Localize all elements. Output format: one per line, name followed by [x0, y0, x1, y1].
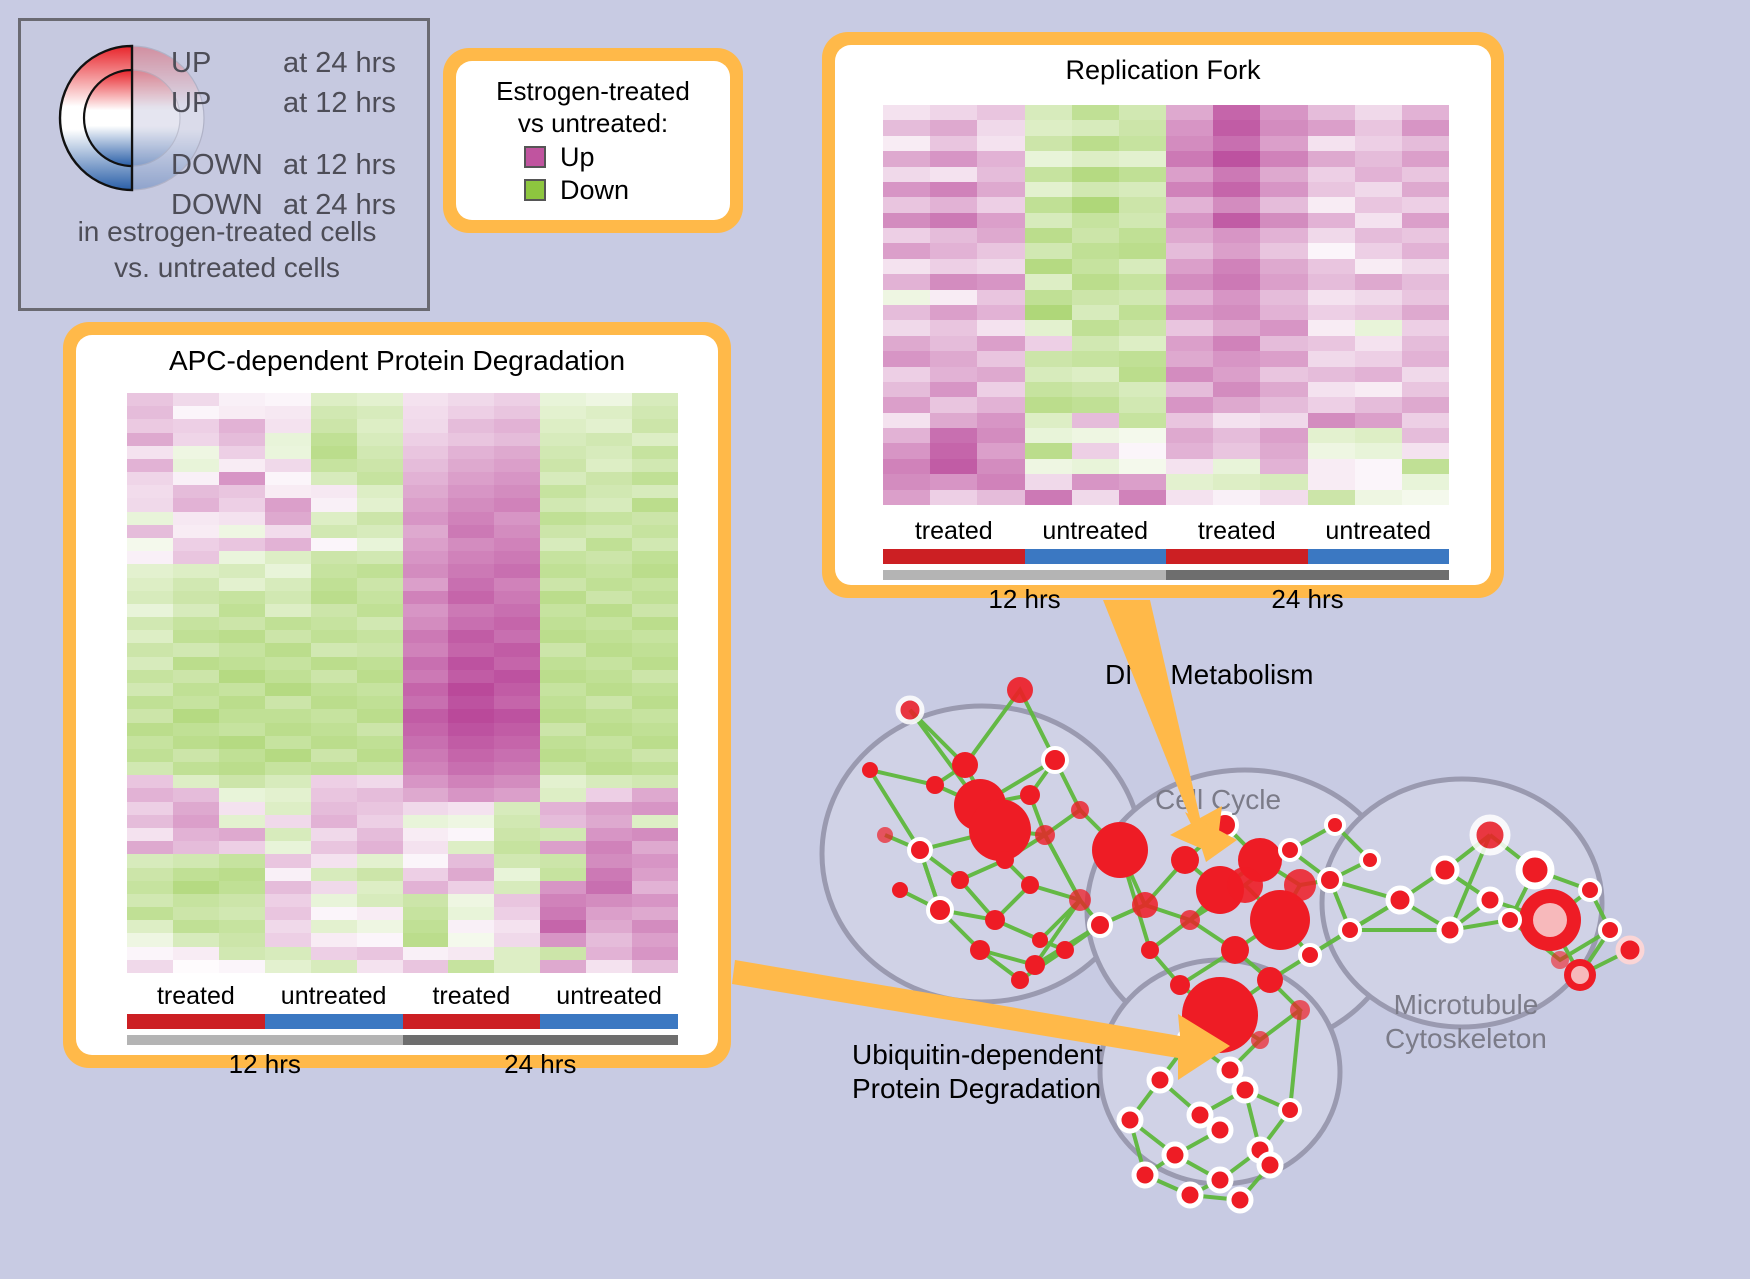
heatmap-cell — [586, 446, 632, 459]
heatmap-cell — [632, 907, 678, 920]
sample-group-labels: treated untreated treated untreated — [883, 515, 1449, 547]
heatmap-cell — [403, 498, 449, 511]
heatmap-cell — [403, 788, 449, 801]
heatmap-cell — [586, 472, 632, 485]
heatmap-cell — [1260, 274, 1307, 289]
heatmap-cell — [448, 551, 494, 564]
heatmap-cell — [1355, 290, 1402, 305]
heatmap-cell — [1213, 259, 1260, 274]
heatmap-cell — [357, 538, 403, 551]
heatmap-cell — [357, 933, 403, 946]
updown-title-line1: Estrogen-treated — [472, 75, 714, 107]
heatmap-cell — [403, 551, 449, 564]
heatmap-cell — [173, 406, 219, 419]
heatmap-cell — [586, 630, 632, 643]
heatmap-cell — [357, 709, 403, 722]
heatmap-cell — [1025, 259, 1072, 274]
time-labels: 12 hrs 24 hrs — [883, 580, 1449, 618]
heatmap-cell — [1308, 167, 1355, 182]
heatmap-cell — [586, 564, 632, 577]
heatmap-cell — [977, 413, 1024, 428]
updown-label: Down — [560, 175, 629, 205]
sample-group-colorbar — [883, 549, 1449, 564]
heatmap-cell — [403, 670, 449, 683]
heatmap-cell — [265, 433, 311, 446]
heatmap-cell — [1166, 428, 1213, 443]
heatmap-cell — [930, 320, 977, 335]
heatmap-cell — [1213, 228, 1260, 243]
heatmap-cell — [1025, 167, 1072, 182]
heatmap-cell — [1166, 136, 1213, 151]
heatmap-cell — [448, 841, 494, 854]
heatmap-cell — [632, 630, 678, 643]
heatmap-cell — [1260, 228, 1307, 243]
heatmap-cell — [586, 525, 632, 538]
heatmap-cell — [1072, 274, 1119, 289]
heatmap-cell — [1308, 413, 1355, 428]
heatmap-cell — [357, 551, 403, 564]
heatmap-cell — [1355, 228, 1402, 243]
heatmap-cell — [494, 933, 540, 946]
heatmap-cell — [1402, 474, 1449, 489]
heatmap-cell — [1166, 443, 1213, 458]
time-bar-12hrs — [883, 570, 1166, 580]
heatmap-cell — [311, 868, 357, 881]
heatmap-cell — [1402, 382, 1449, 397]
heatmap-cell — [540, 723, 586, 736]
heatmap-cell — [357, 578, 403, 591]
heatmap-cell — [403, 538, 449, 551]
heatmap-cell — [494, 578, 540, 591]
heatmap-cell — [540, 920, 586, 933]
heatmap-cell — [448, 393, 494, 406]
heatmap-cell — [403, 854, 449, 867]
heatmap-cell — [127, 775, 173, 788]
heatmap-cell — [173, 723, 219, 736]
heatmap-cell — [494, 512, 540, 525]
heatmap-cell — [173, 670, 219, 683]
heatmap-cell — [1402, 490, 1449, 505]
heatmap-cell — [930, 305, 977, 320]
apc-degradation-title: APC-dependent Protein Degradation — [76, 335, 718, 377]
heatmap-cell — [1402, 336, 1449, 351]
heatmap-cell — [494, 525, 540, 538]
heatmap-cell — [357, 907, 403, 920]
heatmap-cell — [1260, 397, 1307, 412]
heatmap-cell — [448, 604, 494, 617]
heatmap-cell — [1166, 243, 1213, 258]
heatmap-cell — [586, 815, 632, 828]
heatmap-cell — [403, 920, 449, 933]
heatmap-cell — [1308, 290, 1355, 305]
heatmap-cell — [403, 630, 449, 643]
heatmap-cell — [127, 538, 173, 551]
heatmap-cell — [540, 683, 586, 696]
heatmap-cell — [127, 815, 173, 828]
heatmap-cell — [448, 406, 494, 419]
heatmap-cell — [1213, 397, 1260, 412]
heatmap-cell — [1166, 351, 1213, 366]
heatmap-cell — [1166, 167, 1213, 182]
heatmap-cell — [219, 446, 265, 459]
heatmap-cell — [586, 459, 632, 472]
colorwheel-key: UP — [171, 43, 283, 83]
heatmap-cell — [930, 136, 977, 151]
heatmap-cell — [127, 868, 173, 881]
heatmap-cell — [403, 933, 449, 946]
heatmap-cell — [265, 854, 311, 867]
heatmap-cell — [1025, 397, 1072, 412]
heatmap-cell — [219, 657, 265, 670]
heatmap-cell — [1308, 120, 1355, 135]
heatmap-cell — [1260, 428, 1307, 443]
heatmap-cell — [357, 419, 403, 432]
heatmap-cell — [930, 105, 977, 120]
heatmap-cell — [1119, 336, 1166, 351]
heatmap-cell — [1072, 182, 1119, 197]
heatmap-cell — [586, 591, 632, 604]
heatmap-cell — [632, 406, 678, 419]
heatmap-cell — [127, 512, 173, 525]
heatmap-cell — [448, 564, 494, 577]
heatmap-cell — [632, 670, 678, 683]
heatmap-cell — [977, 305, 1024, 320]
apc-sample-strip: treated untreated treated untreated 12 h — [127, 980, 678, 1083]
heatmap-cell — [540, 868, 586, 881]
heatmap-cell — [1355, 259, 1402, 274]
heatmap-cell — [494, 828, 540, 841]
heatmap-cell — [883, 320, 930, 335]
heatmap-cell — [219, 578, 265, 591]
heatmap-cell — [1402, 259, 1449, 274]
heatmap-cell — [311, 446, 357, 459]
heatmap-cell — [219, 933, 265, 946]
heatmap-cell — [494, 736, 540, 749]
heatmap-cell — [311, 775, 357, 788]
heatmap-cell — [448, 630, 494, 643]
heatmap-cell — [173, 657, 219, 670]
heatmap-cell — [540, 393, 586, 406]
heatmap-cell — [311, 828, 357, 841]
heatmap-cell — [403, 472, 449, 485]
heatmap-cell — [357, 683, 403, 696]
heatmap-cell — [357, 894, 403, 907]
heatmap-cell — [357, 960, 403, 973]
heatmap-cell — [1260, 167, 1307, 182]
heatmap-cell — [127, 657, 173, 670]
heatmap-cell — [127, 723, 173, 736]
heatmap-cell — [357, 406, 403, 419]
heatmap-cell — [265, 709, 311, 722]
heatmap-cell — [1402, 167, 1449, 182]
heatmap-cell — [357, 854, 403, 867]
heatmap-cell — [632, 749, 678, 762]
heatmap-cell — [1025, 151, 1072, 166]
heatmap-cell — [127, 788, 173, 801]
heatmap-cell — [1402, 182, 1449, 197]
heatmap-cell — [173, 538, 219, 551]
heatmap-cell — [357, 617, 403, 630]
heatmap-cell — [448, 683, 494, 696]
heatmap-cell — [494, 485, 540, 498]
heatmap-cell — [540, 433, 586, 446]
heatmap-cell — [403, 578, 449, 591]
heatmap-cell — [357, 604, 403, 617]
heatmap-cell — [1119, 290, 1166, 305]
heatmap-cell — [357, 868, 403, 881]
figure-canvas: UP at 24 hrs UP at 12 hrs DOWN at 12 hrs… — [0, 0, 1750, 1279]
heatmap-cell — [448, 854, 494, 867]
heatmap-cell — [632, 947, 678, 960]
heatmap-cell — [883, 290, 930, 305]
heatmap-cell — [219, 617, 265, 630]
heatmap-cell — [1072, 367, 1119, 382]
heatmap-cell — [1119, 459, 1166, 474]
heatmap-cell — [586, 419, 632, 432]
heatmap-cell — [1072, 228, 1119, 243]
heatmap-cell — [586, 868, 632, 881]
heatmap-cell — [930, 443, 977, 458]
heatmap-cell — [977, 443, 1024, 458]
heatmap-cell — [403, 485, 449, 498]
heatmap-cell — [1260, 259, 1307, 274]
heatmap-cell — [494, 960, 540, 973]
time-label: 12 hrs — [883, 580, 1166, 618]
heatmap-cell — [311, 854, 357, 867]
heatmap-cell — [930, 259, 977, 274]
heatmap-cell — [219, 947, 265, 960]
heatmap-cell — [1402, 151, 1449, 166]
heatmap-cell — [403, 604, 449, 617]
heatmap-cell — [127, 406, 173, 419]
heatmap-cell — [311, 894, 357, 907]
heatmap-cell — [586, 854, 632, 867]
heatmap-cell — [357, 749, 403, 762]
heatmap-cell — [1402, 428, 1449, 443]
heatmap-cell — [586, 538, 632, 551]
time-labels: 12 hrs 24 hrs — [127, 1045, 678, 1083]
updown-title-line2: vs untreated: — [472, 107, 714, 139]
heatmap-cell — [930, 228, 977, 243]
heatmap-cell — [494, 947, 540, 960]
colorwheel-label-list: UP at 24 hrs UP at 12 hrs DOWN at 12 hrs… — [171, 43, 421, 225]
apc-degradation-panel: APC-dependent Protein Degradation treate… — [63, 322, 731, 1068]
heatmap-cell — [311, 947, 357, 960]
heatmap-cell — [448, 749, 494, 762]
heatmap-cell — [494, 841, 540, 854]
heatmap-cell — [219, 723, 265, 736]
heatmap-cell — [448, 815, 494, 828]
heatmap-cell — [930, 213, 977, 228]
heatmap-cell — [632, 564, 678, 577]
sample-group-label: untreated — [265, 980, 403, 1012]
heatmap-cell — [1213, 351, 1260, 366]
heatmap-cell — [1308, 274, 1355, 289]
heatmap-cell — [311, 933, 357, 946]
updown-item-down: Down — [524, 175, 714, 205]
heatmap-cell — [1072, 382, 1119, 397]
heatmap-cell — [586, 512, 632, 525]
heatmap-cell — [930, 351, 977, 366]
heatmap-cell — [883, 243, 930, 258]
heatmap-cell — [403, 709, 449, 722]
heatmap-cell — [173, 604, 219, 617]
heatmap-cell — [586, 749, 632, 762]
network-label-ubiquitin: Ubiquitin-dependent Protein Degradation — [852, 1038, 1103, 1106]
heatmap-cell — [930, 182, 977, 197]
heatmap-cell — [1308, 105, 1355, 120]
heatmap-cell — [632, 696, 678, 709]
heatmap-cell — [1025, 367, 1072, 382]
sample-group-label: treated — [883, 515, 1025, 547]
heatmap-cell — [357, 459, 403, 472]
heatmap-cell — [403, 564, 449, 577]
heatmap-cell — [586, 617, 632, 630]
heatmap-cell — [127, 696, 173, 709]
heatmap-cell — [1308, 305, 1355, 320]
heatmap-cell — [173, 762, 219, 775]
heatmap-cell — [219, 894, 265, 907]
heatmap-cell — [930, 290, 977, 305]
heatmap-cell — [1355, 213, 1402, 228]
heatmap-cell — [883, 474, 930, 489]
heatmap-cell — [265, 498, 311, 511]
heatmap-cell — [494, 723, 540, 736]
heatmap-cell — [448, 538, 494, 551]
heatmap-cell — [1025, 336, 1072, 351]
heatmap-cell — [1260, 320, 1307, 335]
heatmap-cell — [540, 643, 586, 656]
heatmap-cell — [632, 920, 678, 933]
heatmap-cell — [1119, 213, 1166, 228]
heatmap-cell — [1260, 213, 1307, 228]
pathway-network-diagram: DNA Metabolism Cell Cycle Microtubule Cy… — [790, 620, 1750, 1279]
heatmap-cell — [586, 709, 632, 722]
heatmap-cell — [357, 670, 403, 683]
heatmap-cell — [448, 459, 494, 472]
heatmap-cell — [1119, 136, 1166, 151]
heatmap-cell — [403, 841, 449, 854]
heatmap-cell — [977, 367, 1024, 382]
heatmap-cell — [1260, 197, 1307, 212]
heatmap-cell — [1166, 490, 1213, 505]
heatmap-cell — [1355, 136, 1402, 151]
heatmap-cell — [1402, 213, 1449, 228]
heatmap-cell — [173, 802, 219, 815]
heatmap-cell — [448, 485, 494, 498]
heatmap-cell — [448, 828, 494, 841]
heatmap-cell — [1025, 351, 1072, 366]
heatmap-cell — [265, 617, 311, 630]
heatmap-cell — [1166, 213, 1213, 228]
untreated-bar — [1308, 549, 1450, 564]
heatmap-cell — [1402, 228, 1449, 243]
heatmap-cell — [357, 472, 403, 485]
heatmap-cell — [1119, 351, 1166, 366]
heatmap-cell — [448, 433, 494, 446]
heatmap-cell — [494, 854, 540, 867]
heatmap-cell — [357, 433, 403, 446]
heatmap-cell — [494, 472, 540, 485]
heatmap-cell — [540, 459, 586, 472]
heatmap-cell — [127, 881, 173, 894]
heatmap-cell — [632, 512, 678, 525]
network-label-cell-cycle: Cell Cycle — [1155, 783, 1281, 817]
heatmap-cell — [883, 428, 930, 443]
heatmap-cell — [219, 538, 265, 551]
heatmap-cell — [494, 696, 540, 709]
replication-fork-panel: Replication Fork treated untreated treat… — [822, 32, 1504, 598]
heatmap-cell — [357, 723, 403, 736]
heatmap-cell — [311, 670, 357, 683]
colorwheel-value: at 12 hrs — [283, 145, 396, 185]
heatmap-cell — [403, 617, 449, 630]
heatmap-cell — [1119, 382, 1166, 397]
heatmap-cell — [1213, 413, 1260, 428]
heatmap-cell — [494, 643, 540, 656]
heatmap-cell — [127, 419, 173, 432]
heatmap-cell — [977, 490, 1024, 505]
heatmap-cell — [1355, 413, 1402, 428]
heatmap-cell — [127, 617, 173, 630]
heatmap-cell — [448, 512, 494, 525]
heatmap-cell — [1355, 474, 1402, 489]
heatmap-cell — [1308, 459, 1355, 474]
heatmap-cell — [311, 683, 357, 696]
heatmap-cell — [403, 894, 449, 907]
heatmap-cell — [448, 419, 494, 432]
heatmap-cell — [357, 393, 403, 406]
heatmap-cell — [1308, 490, 1355, 505]
heatmap-cell — [219, 960, 265, 973]
heatmap-cell — [265, 564, 311, 577]
heatmap-cell — [403, 868, 449, 881]
heatmap-cell — [632, 894, 678, 907]
heatmap-cell — [448, 881, 494, 894]
heatmap-cell — [1260, 474, 1307, 489]
replication-fork-heatmap — [883, 105, 1449, 505]
heatmap-cell — [219, 868, 265, 881]
heatmap-cell — [173, 683, 219, 696]
heatmap-cell — [586, 802, 632, 815]
heatmap-cell — [1025, 305, 1072, 320]
heatmap-cell — [883, 413, 930, 428]
heatmap-cell — [357, 881, 403, 894]
sample-group-labels: treated untreated treated untreated — [127, 980, 678, 1012]
heatmap-cell — [1402, 290, 1449, 305]
heatmap-cell — [540, 854, 586, 867]
updown-item-up: Up — [524, 142, 714, 172]
network-label-dna-metabolism: DNA Metabolism — [1105, 658, 1314, 692]
heatmap-cell — [1355, 397, 1402, 412]
heatmap-cell — [540, 512, 586, 525]
heatmap-cell — [127, 960, 173, 973]
heatmap-cell — [311, 762, 357, 775]
heatmap-cell — [173, 591, 219, 604]
heatmap-cell — [219, 393, 265, 406]
heatmap-cell — [1260, 151, 1307, 166]
heatmap-cell — [357, 947, 403, 960]
heatmap-cell — [265, 512, 311, 525]
heatmap-cell — [632, 643, 678, 656]
heatmap-cell — [219, 406, 265, 419]
colorwheel-value: at 24 hrs — [283, 43, 396, 83]
heatmap-cell — [586, 683, 632, 696]
heatmap-cell — [632, 551, 678, 564]
heatmap-cell — [883, 213, 930, 228]
heatmap-cell — [1119, 305, 1166, 320]
heatmap-cell — [219, 485, 265, 498]
